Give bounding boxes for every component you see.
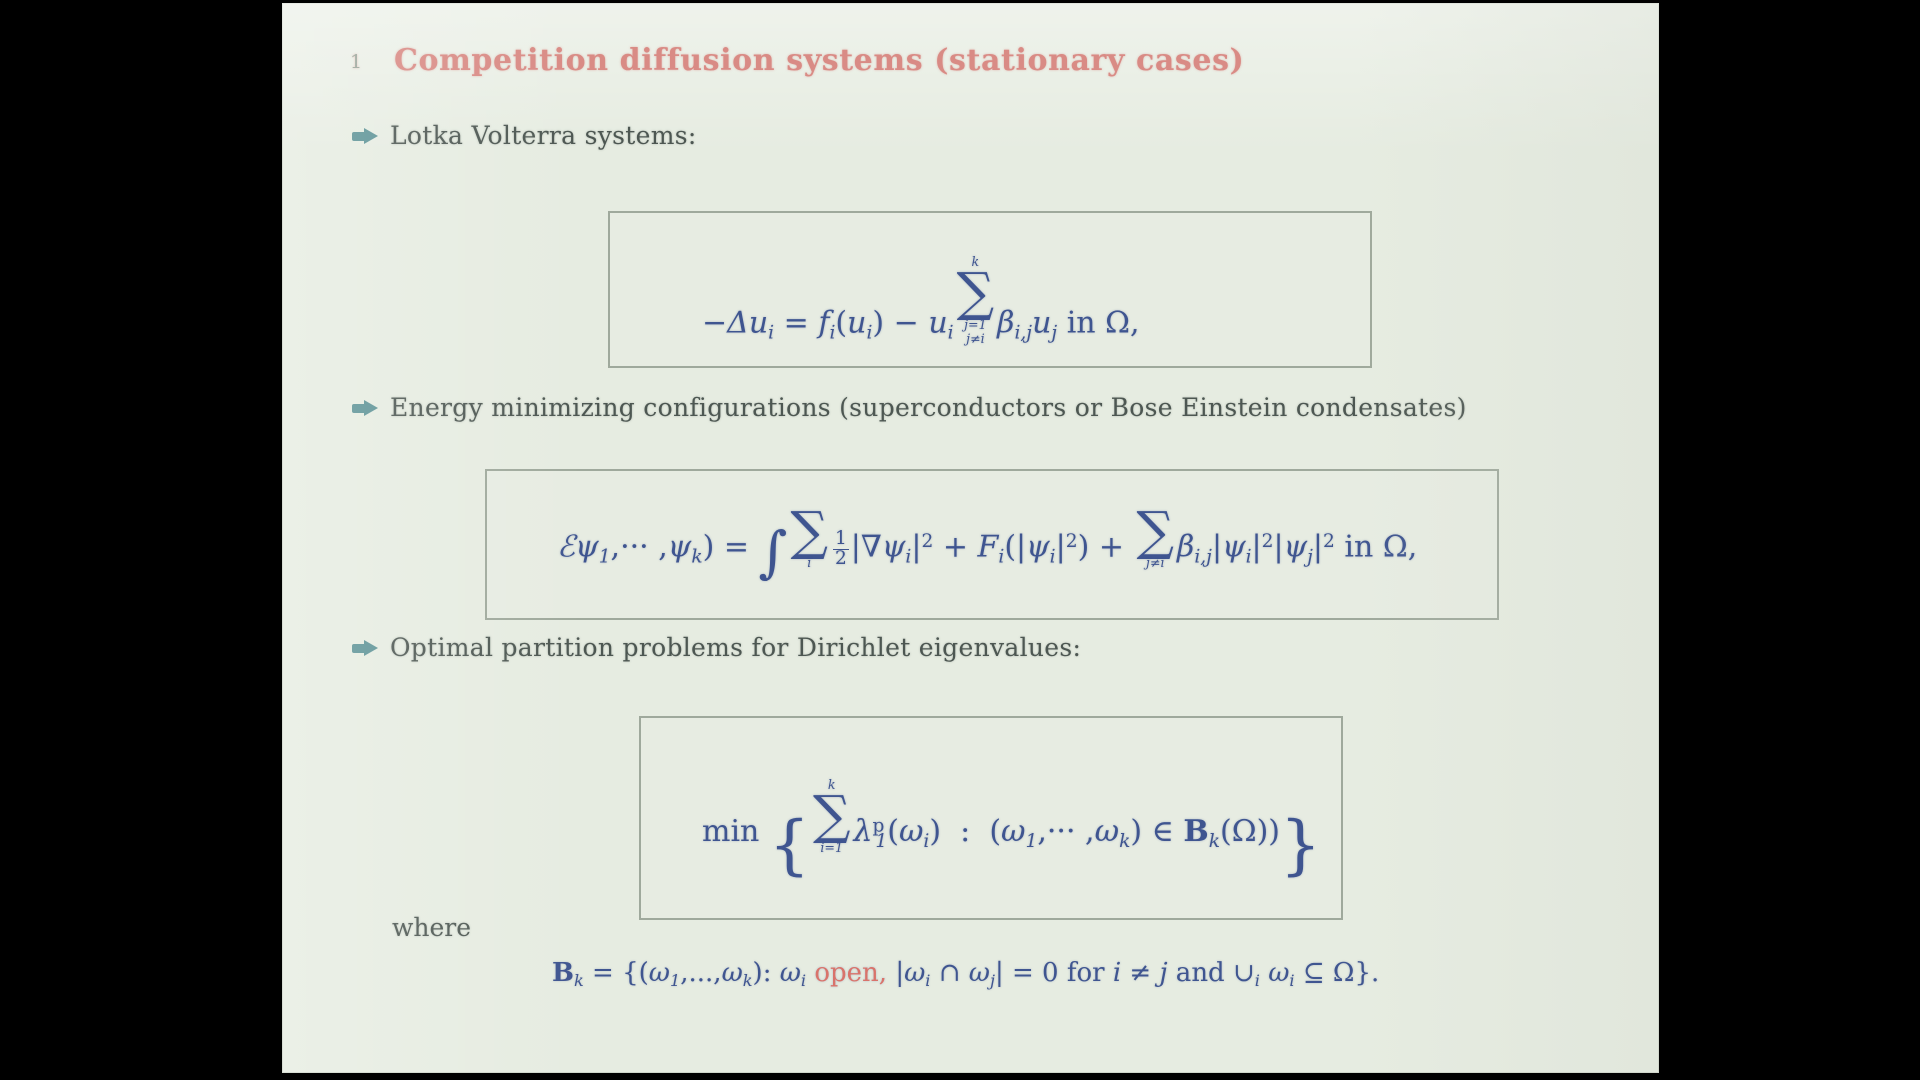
open-keyword: open, xyxy=(814,958,887,988)
bullet-item-energy-minimizing: Energy minimizing configurations (superc… xyxy=(352,393,1467,422)
energy-functional-equation: ℰψ1,··· ,ψk) = ∫∑i12|∇ψi|2 + Fi(|ψi|2) +… xyxy=(557,508,1417,585)
summation-symbol: ∑i xyxy=(790,508,827,571)
bullet-item-optimal-partition: Optimal partition problems for Dirichlet… xyxy=(352,633,1081,662)
presentation-slide: 1Competition diffusion systems (stationa… xyxy=(282,3,1659,1073)
summation-symbol: k∑j=1j≠i xyxy=(957,255,994,347)
summation-symbol: ∑j≠i xyxy=(1137,508,1174,571)
one-half-fraction: 12 xyxy=(833,530,849,569)
family-definition: Bk = {(ω1,...,ωk): ωi open, |ωi ∩ ωj| = … xyxy=(552,958,1379,990)
arrow-right-icon xyxy=(352,400,378,417)
arrow-right-icon xyxy=(352,640,378,657)
bullet-item-lotka-volterra: Lotka Volterra systems: xyxy=(352,121,697,150)
bullet-label: Energy minimizing configurations (superc… xyxy=(390,393,1467,422)
section-number: 1 xyxy=(350,51,394,73)
bullet-label: Lotka Volterra systems: xyxy=(390,121,697,150)
right-brace: } xyxy=(1280,808,1321,883)
arrow-right-icon xyxy=(352,128,378,145)
title-text: Competition diffusion systems (stationar… xyxy=(394,43,1244,78)
integral-symbol: ∫ xyxy=(759,520,788,585)
where-label: where xyxy=(392,913,471,942)
optimal-partition-equation: min {k∑i=1λp1(ωi) : (ω1,··· ,ωk) ∈ Bk(Ω)… xyxy=(702,778,1321,883)
family-symbol: B xyxy=(1183,814,1208,849)
bullet-label: Optimal partition problems for Dirichlet… xyxy=(390,633,1081,662)
left-brace: { xyxy=(769,808,810,883)
lotka-volterra-equation: −Δui = fi(ui) − uik∑j=1j≠iβi,juj in Ω, xyxy=(702,255,1140,347)
page-title: 1Competition diffusion systems (stationa… xyxy=(350,43,1600,78)
screen: 1Competition diffusion systems (stationa… xyxy=(0,0,1920,1080)
summation-symbol: k∑i=1 xyxy=(813,778,850,855)
